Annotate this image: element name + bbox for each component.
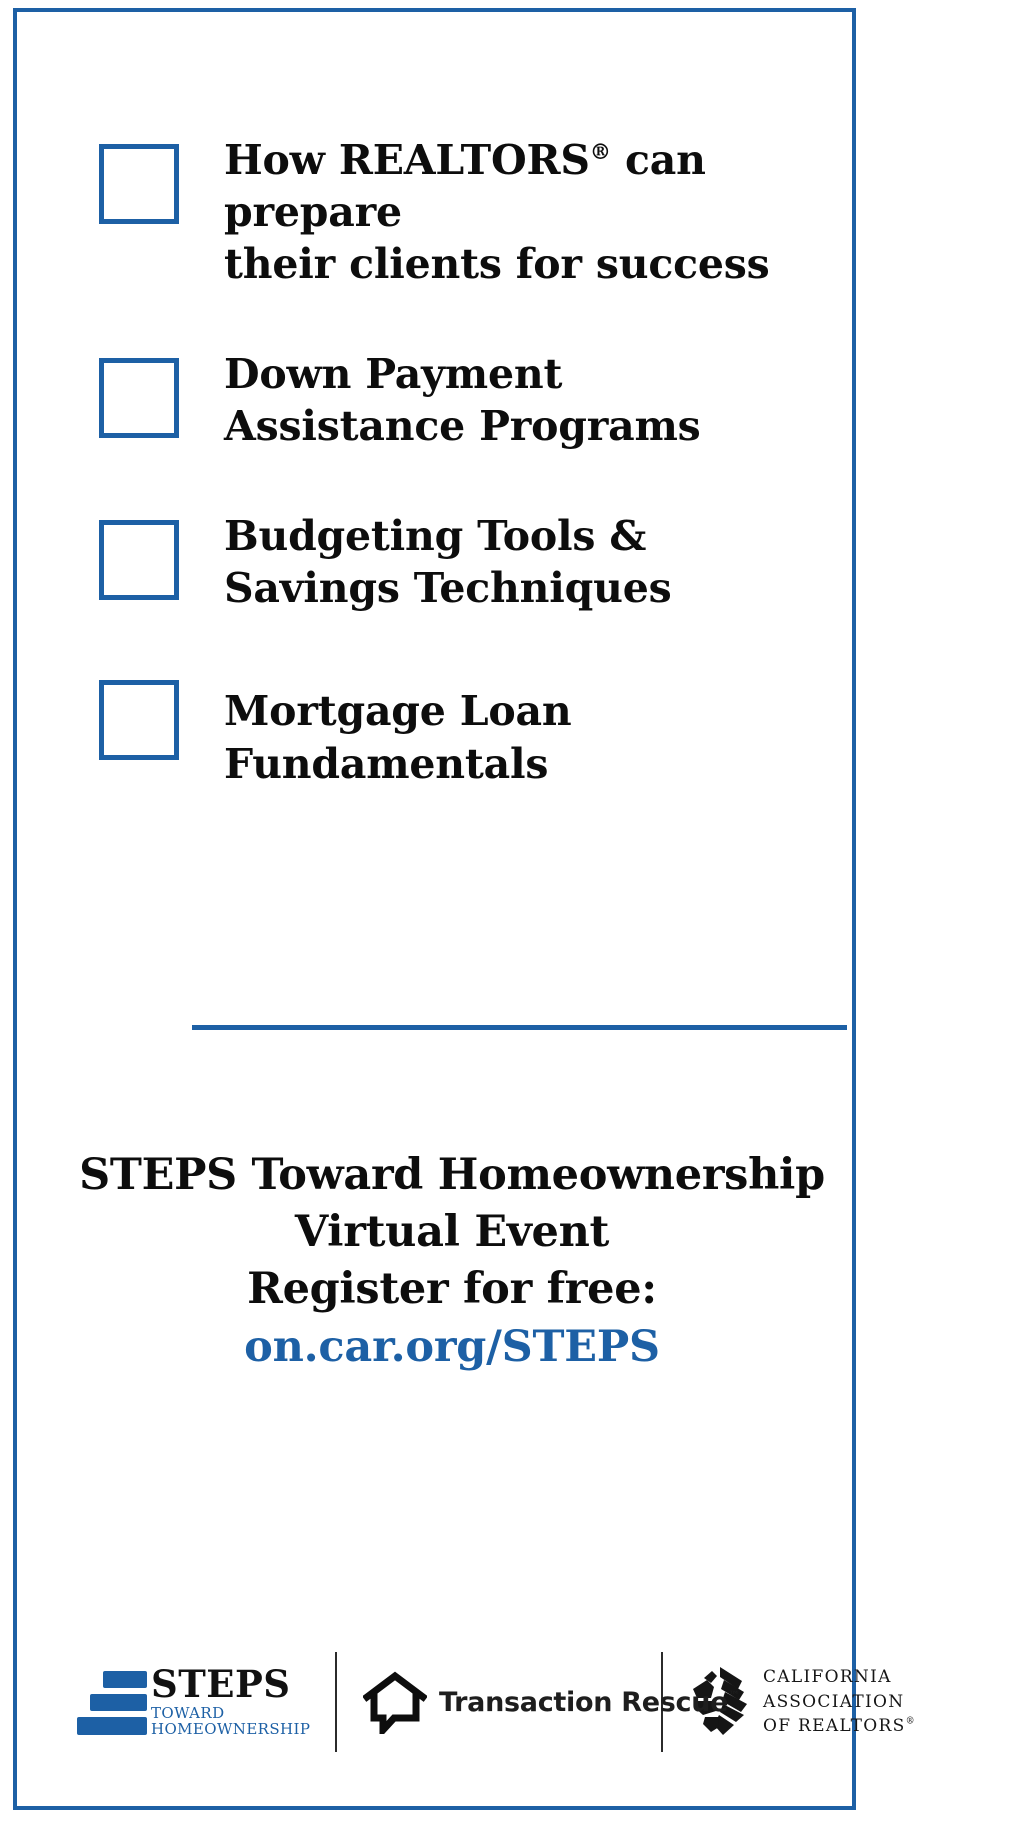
steps-logo-subtitle-line2: HOMEOWNERSHIP bbox=[151, 1721, 310, 1737]
steps-bar-bottom bbox=[77, 1717, 147, 1735]
checklist-item-3-line2: Savings Techniques bbox=[224, 564, 672, 612]
checklist: How REALTORS® can preparetheir clients f… bbox=[99, 134, 859, 790]
car-logo-line-1: CALIFORNIA bbox=[763, 1665, 916, 1690]
checklist-item-2[interactable]: Down PaymentAssistance Programs bbox=[99, 348, 859, 452]
trademark-mark-icon: ™ bbox=[728, 1688, 740, 1702]
steps-logo-wordmark: STEPS TOWARD HOMEOWNERSHIP bbox=[151, 1667, 310, 1738]
steps-bar-top bbox=[103, 1671, 147, 1688]
checklist-item-1-label: How REALTORS® can preparetheir clients f… bbox=[224, 134, 859, 290]
steps-bar-middle bbox=[90, 1694, 147, 1711]
event-registration-link[interactable]: on.car.org/STEPS bbox=[57, 1319, 847, 1376]
checkbox-icon[interactable] bbox=[99, 680, 179, 760]
registered-mark-icon: ® bbox=[590, 140, 611, 165]
steps-toward-homeownership-logo[interactable]: STEPS TOWARD HOMEOWNERSHIP bbox=[77, 1650, 309, 1755]
checklist-item-1-line2: their clients for success bbox=[224, 240, 770, 288]
checklist-item-4[interactable]: Mortgage Loan Fundamentals bbox=[99, 672, 859, 789]
checklist-item-3[interactable]: Budgeting Tools &Savings Techniques bbox=[99, 510, 859, 614]
horizontal-divider bbox=[192, 1025, 847, 1030]
checklist-item-4-label: Mortgage Loan Fundamentals bbox=[224, 672, 859, 789]
car-logo-line-3-wrap: OF REALTORS® bbox=[763, 1714, 916, 1739]
checkbox-icon[interactable] bbox=[99, 358, 179, 438]
steps-stairs-icon bbox=[77, 1669, 147, 1735]
transaction-rescue-name: Transaction Rescue bbox=[439, 1687, 728, 1718]
logo-separator-1 bbox=[335, 1652, 337, 1752]
car-logo-wordmark: CALIFORNIA ASSOCIATION OF REALTORS® bbox=[763, 1665, 916, 1739]
registered-mark-icon: ® bbox=[906, 1717, 916, 1727]
checkbox-icon[interactable] bbox=[99, 520, 179, 600]
car-logo-line-2: ASSOCIATION bbox=[763, 1690, 916, 1715]
transaction-rescue-logo[interactable]: Transaction Rescue™ bbox=[363, 1650, 635, 1755]
checklist-item-1[interactable]: How REALTORS® can preparetheir clients f… bbox=[99, 134, 859, 290]
event-title-line-1: STEPS Toward Homeownership bbox=[57, 1147, 847, 1204]
checkbox-icon[interactable] bbox=[99, 144, 179, 224]
checklist-item-1-line1-pre: How REALTORS bbox=[224, 136, 590, 184]
event-register-prompt: Register for free: bbox=[57, 1261, 847, 1318]
transaction-rescue-wordmark: Transaction Rescue™ bbox=[439, 1687, 740, 1718]
steps-logo-subtitle-line1: TOWARD bbox=[151, 1705, 310, 1721]
poster-canvas: How REALTORS® can preparetheir clients f… bbox=[0, 0, 1021, 1827]
poster-blue-frame: How REALTORS® can preparetheir clients f… bbox=[13, 8, 856, 1810]
event-info-block: STEPS Toward Homeownership Virtual Event… bbox=[57, 1147, 847, 1376]
checklist-item-3-line1: Budgeting Tools & bbox=[224, 512, 646, 560]
car-logo-line-3: OF REALTORS bbox=[763, 1716, 906, 1736]
house-speech-bubble-icon bbox=[363, 1670, 427, 1734]
checklist-item-2-line2: Assistance Programs bbox=[224, 402, 701, 450]
footer-logo-bar: STEPS TOWARD HOMEOWNERSHIP Transaction R… bbox=[77, 1637, 837, 1767]
steps-logo-title: STEPS bbox=[151, 1667, 310, 1702]
checklist-item-2-line1: Down Payment bbox=[224, 350, 562, 398]
checklist-item-3-label: Budgeting Tools &Savings Techniques bbox=[224, 510, 672, 614]
event-title-line-2: Virtual Event bbox=[57, 1204, 847, 1261]
checklist-item-2-label: Down PaymentAssistance Programs bbox=[224, 348, 701, 452]
